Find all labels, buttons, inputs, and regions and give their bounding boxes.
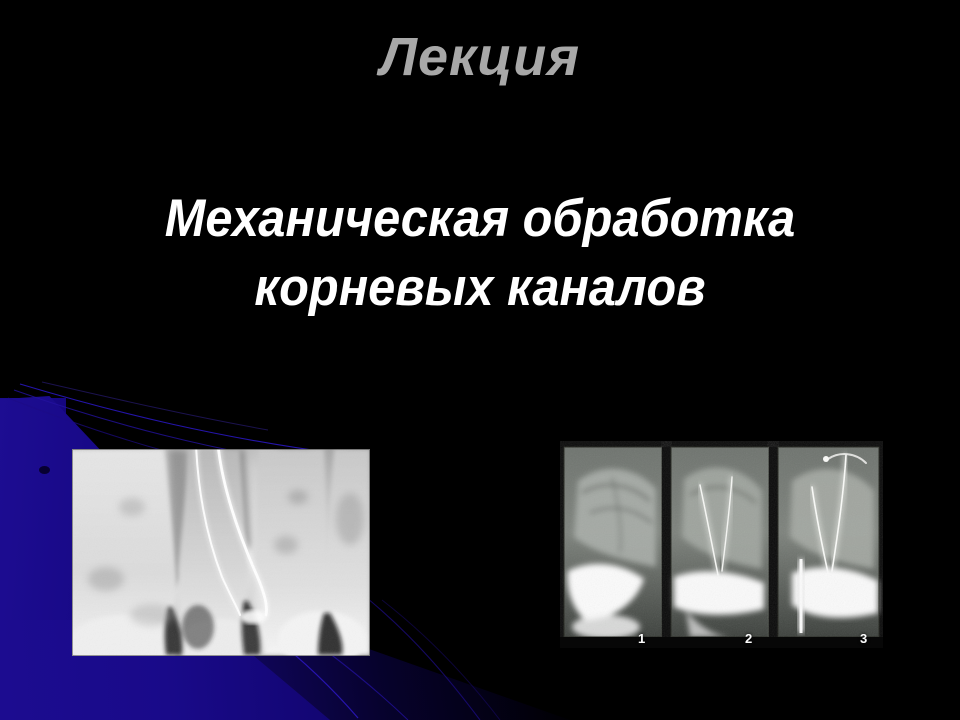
radiograph-panel-label-3: 3 <box>860 631 867 646</box>
radiograph-panel-label-1: 1 <box>638 631 645 646</box>
radiograph-image-left <box>72 449 370 656</box>
radiograph-panel-label-2: 2 <box>745 631 752 646</box>
slide-title: Лекция <box>0 26 960 88</box>
dental-radiograph-right: 1 2 3 <box>560 441 883 648</box>
presentation-slide: Лекция Механическая обработка корневых к… <box>0 0 960 720</box>
bullet-marker-icon <box>39 466 50 474</box>
dental-radiograph-left <box>72 449 370 656</box>
decorative-blue-band <box>0 398 66 720</box>
slide-subtitle: Механическая обработка корневых каналов <box>112 184 848 322</box>
radiograph-image-right <box>560 441 883 648</box>
slide-subtitle-line-1: Механическая обработка <box>112 184 848 253</box>
slide-subtitle-line-2: корневых каналов <box>112 253 848 322</box>
